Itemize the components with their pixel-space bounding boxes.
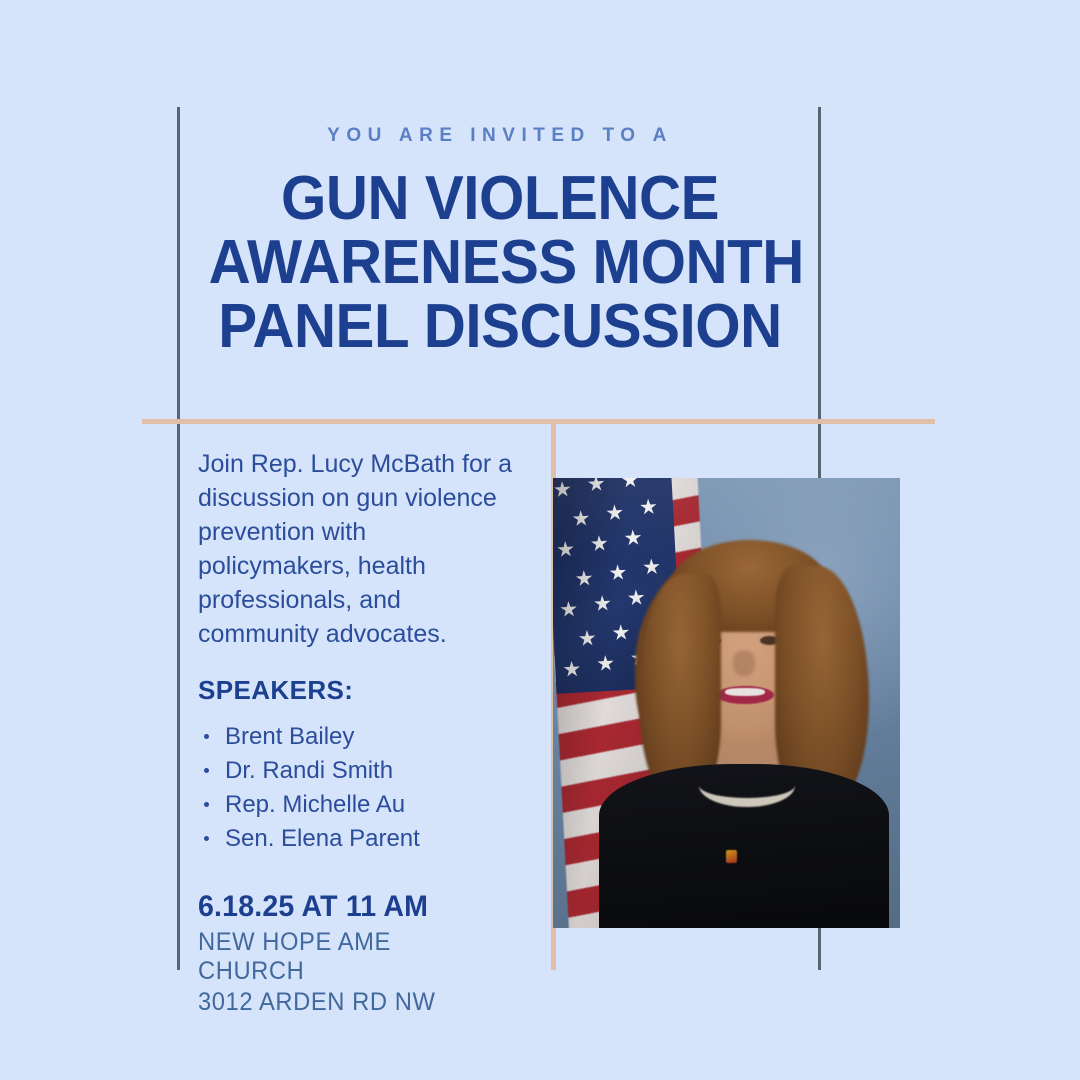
horizontal-rule-accent	[142, 419, 935, 424]
speaker-name: Dr. Randi Smith	[225, 757, 393, 784]
bullet-icon	[204, 802, 209, 807]
speaker-name: Brent Bailey	[225, 723, 354, 750]
intro-paragraph: Join Rep. Lucy McBath for a discussion o…	[198, 447, 518, 651]
speaker-name: Rep. Michelle Au	[225, 791, 405, 818]
page-title: GUN VIOLENCE AWARENESS MONTH PANEL DISCU…	[209, 167, 792, 359]
list-item: Rep. Michelle Au	[198, 788, 518, 822]
speaker-name: Sen. Elena Parent	[225, 825, 420, 852]
speaker-portrait-photo	[553, 478, 900, 928]
list-item: Sen. Elena Parent	[198, 822, 518, 856]
event-datetime: 6.18.25 AT 11 AM	[198, 890, 502, 924]
speakers-list: Brent Bailey Dr. Randi Smith Rep. Michel…	[198, 720, 518, 856]
header-block: YOU ARE INVITED TO A GUN VIOLENCE AWAREN…	[190, 126, 810, 359]
list-item: Brent Bailey	[198, 720, 518, 754]
bullet-icon	[204, 734, 209, 739]
photo-vignette	[553, 478, 900, 928]
details-column: Join Rep. Lucy McBath for a discussion o…	[198, 447, 518, 1019]
bullet-icon	[204, 836, 209, 841]
list-item: Dr. Randi Smith	[198, 754, 518, 788]
headline-line-3: PANEL DISCUSSION	[209, 295, 792, 359]
headline-line-1: GUN VIOLENCE	[209, 167, 792, 231]
headline-line-2: AWARENESS MONTH	[209, 231, 792, 295]
event-address: 3012 ARDEN RD NW	[198, 988, 502, 1017]
invitation-kicker: YOU ARE INVITED TO A	[190, 126, 810, 145]
event-flyer: YOU ARE INVITED TO A GUN VIOLENCE AWAREN…	[0, 0, 1080, 1080]
speakers-heading: SPEAKERS:	[198, 675, 518, 706]
bullet-icon	[204, 768, 209, 773]
vertical-rule-left	[177, 107, 180, 970]
event-venue: NEW HOPE AME CHURCH	[198, 928, 502, 986]
